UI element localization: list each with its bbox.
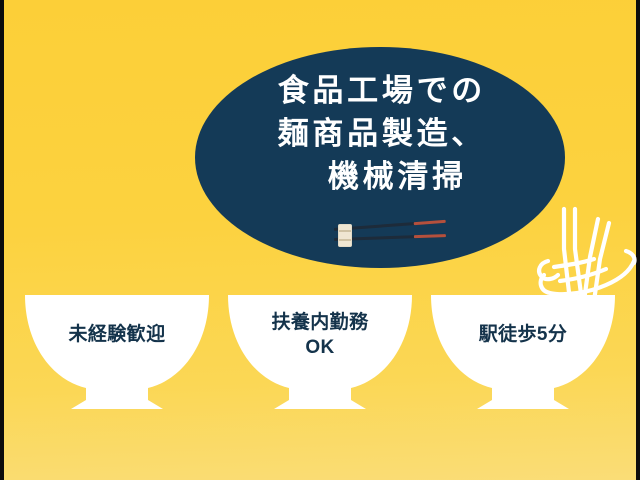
hero-title-line-2: 麺商品製造、 [195,113,565,156]
rice-bowl-icon [428,292,618,412]
rice-bowl-icon [225,292,415,412]
hero-title-line-3: 機械清掃 [195,156,565,199]
feature-bowl-2: 扶養内勤務 OK [225,292,415,412]
chopstick-rest-icon [338,224,352,247]
hero-title: 食品工場での 麺商品製造、 機械清掃 [195,70,565,198]
feature-bowl-3: 駅徒歩5分 [428,292,618,412]
rice-bowl-icon [22,292,212,412]
feature-bowls-row: 未経験歓迎 扶養内勤務 OK 駅徒歩5分 [0,292,640,412]
chopsticks-icon [330,222,450,250]
job-ad-poster: 食品工場での 麺商品製造、 機械清掃 [0,0,640,480]
hero-title-line-1: 食品工場での [195,70,565,113]
feature-bowl-1: 未経験歓迎 [22,292,212,412]
chopstick-lower-tip [414,234,446,238]
